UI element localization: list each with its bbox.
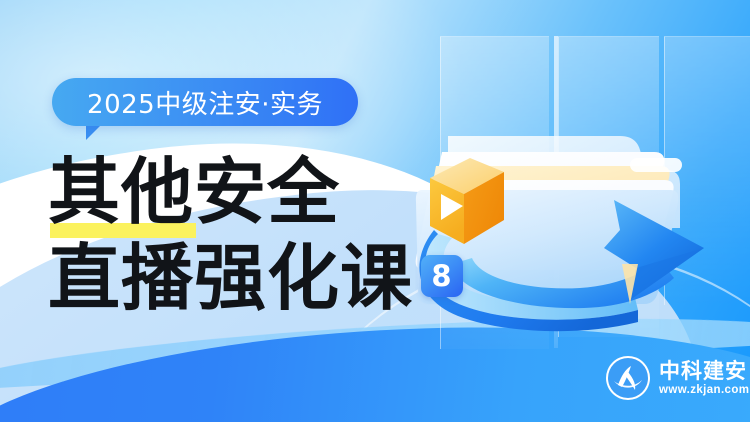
episode-number-badge: 8 xyxy=(421,255,463,297)
course-banner: 2025中级注安·实务 其他安全 直播强化课 8 中科建安 www.zkjan.… xyxy=(0,0,750,422)
course-subject-badge: 2025中级注安·实务 xyxy=(52,78,358,126)
brand-logo-text: 中科建安 www.zkjan.com xyxy=(659,360,749,396)
episode-number-badge-label: 8 xyxy=(431,262,452,291)
course-subject-badge-label: 2025中级注安·实务 xyxy=(87,84,323,121)
brand-name: 中科建安 xyxy=(659,360,749,382)
brand-url: www.zkjan.com xyxy=(659,384,749,396)
headline-line-1-text: 其他安全 xyxy=(48,150,340,234)
brand-logo: 中科建安 www.zkjan.com xyxy=(606,356,749,400)
zkjan-circle-logo-icon xyxy=(606,356,650,400)
headline-line-2: 直播强化课 8 xyxy=(48,241,468,315)
headline-block: 其他安全 直播强化课 8 xyxy=(48,155,468,315)
headline-line-1: 其他安全 xyxy=(48,155,468,229)
folder-tab-notch xyxy=(630,158,682,172)
headline-line-2-text: 直播强化课 xyxy=(48,241,413,315)
